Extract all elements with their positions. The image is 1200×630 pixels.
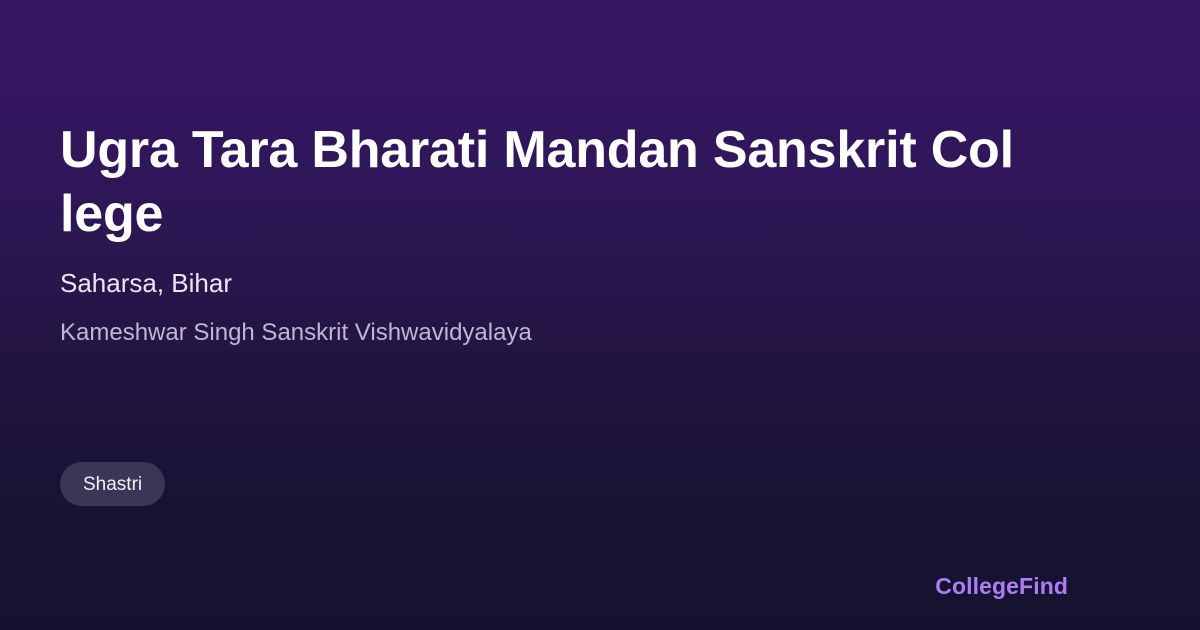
affiliated-university: Kameshwar Singh Sanskrit Vishwavidyalaya [60, 299, 1060, 348]
page-title: Ugra Tara Bharati Mandan Sanskrit Colleg… [60, 118, 1022, 246]
college-og-card: Ugra Tara Bharati Mandan Sanskrit Colleg… [0, 0, 1200, 630]
degree-badge-list: Shastri [60, 462, 165, 506]
card-content: Ugra Tara Bharati Mandan Sanskrit Colleg… [60, 118, 1060, 348]
brand-logo: CollegeFind [935, 572, 1068, 600]
college-location: Saharsa, Bihar [60, 246, 1060, 299]
status-badge: Shastri [60, 462, 165, 506]
